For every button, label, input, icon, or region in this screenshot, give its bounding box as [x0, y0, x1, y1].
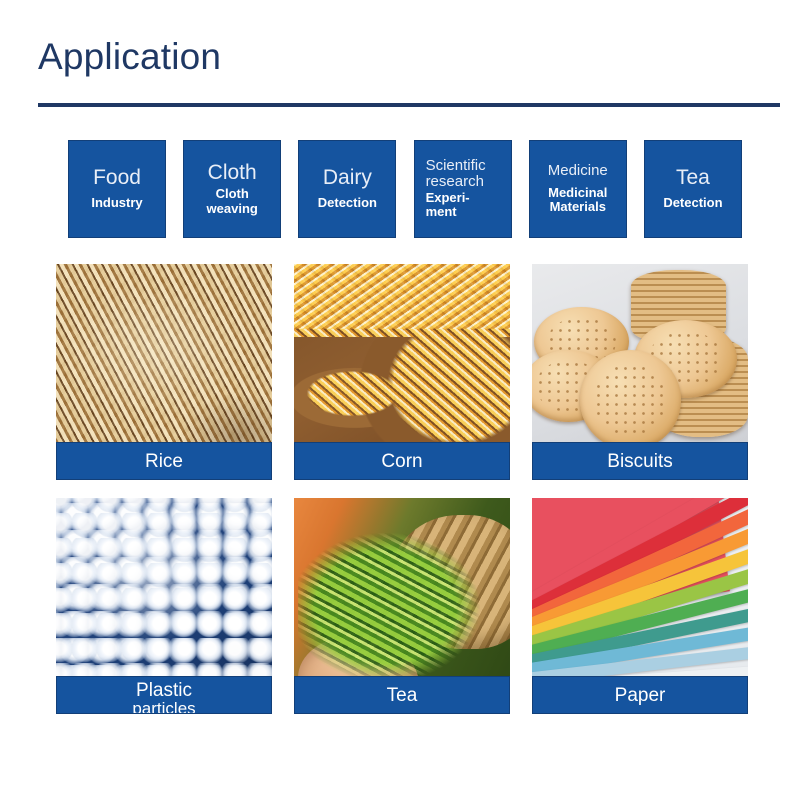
- category-title-scientific-research: Scientific research: [426, 158, 486, 190]
- category-title-cloth: Cloth: [208, 162, 257, 184]
- category-title-medicine: Medicine: [548, 163, 608, 179]
- category-sub-food: Industry: [91, 196, 142, 211]
- category-sub-medicine-line2: Materials: [548, 200, 607, 215]
- gallery-caption-paper: Paper: [532, 676, 748, 714]
- gallery-card-corn[interactable]: Corn: [294, 264, 510, 480]
- category-title-tea: Tea: [676, 167, 710, 189]
- category-tile-tea[interactable]: Tea Detection: [644, 140, 742, 238]
- gallery-caption-plastic: Plastic particles: [56, 676, 272, 714]
- category-title-sci-line1: Scientific: [426, 158, 486, 174]
- gallery-caption-tea: Tea: [294, 676, 510, 714]
- category-tile-dairy[interactable]: Dairy Detection: [298, 140, 396, 238]
- category-sub-dairy: Detection: [318, 196, 377, 211]
- biscuit-4: [580, 350, 682, 449]
- category-sub-cloth-line2: weaving: [207, 202, 258, 217]
- gallery-caption-rice: Rice: [56, 442, 272, 480]
- category-sub-sci-line2: ment: [426, 205, 470, 220]
- category-title-dairy: Dairy: [323, 167, 372, 189]
- category-tile-scientific-research[interactable]: Scientific research Experi- ment: [414, 140, 512, 238]
- gallery-card-tea[interactable]: Tea: [294, 498, 510, 714]
- gallery-card-rice[interactable]: Rice: [56, 264, 272, 480]
- tea-leaves: [298, 533, 479, 689]
- application-gallery-grid: Rice Corn Biscuits Plastic particles: [56, 264, 748, 714]
- category-title-food: Food: [93, 167, 141, 189]
- category-tile-cloth[interactable]: Cloth Cloth weaving: [183, 140, 281, 238]
- category-tile-medicine[interactable]: Medicine Medicinal Materials: [529, 140, 627, 238]
- category-sub-scientific-research: Experi- ment: [426, 191, 470, 220]
- gallery-caption-corn: Corn: [294, 442, 510, 480]
- title-divider: [38, 103, 780, 107]
- category-sub-tea: Detection: [663, 196, 722, 211]
- category-sub-cloth: Cloth weaving: [207, 187, 258, 216]
- category-sub-sci-line1: Experi-: [426, 191, 470, 206]
- category-sub-medicine: Medicinal Materials: [548, 186, 607, 215]
- gallery-card-plastic[interactable]: Plastic particles: [56, 498, 272, 714]
- category-tile-food[interactable]: Food Industry: [68, 140, 166, 238]
- category-title-sci-line2: research: [426, 174, 486, 190]
- category-tile-row: Food Industry Cloth Cloth weaving Dairy …: [68, 140, 742, 238]
- gallery-card-paper[interactable]: Paper: [532, 498, 748, 714]
- page-title: Application: [38, 38, 221, 75]
- gallery-caption-biscuits: Biscuits: [532, 442, 748, 480]
- gallery-caption-plastic-line2: particles: [132, 700, 195, 714]
- category-sub-cloth-line1: Cloth: [207, 187, 258, 202]
- category-sub-medicine-line1: Medicinal: [548, 186, 607, 201]
- gallery-caption-plastic-line1: Plastic: [136, 681, 192, 700]
- gallery-card-biscuits[interactable]: Biscuits: [532, 264, 748, 480]
